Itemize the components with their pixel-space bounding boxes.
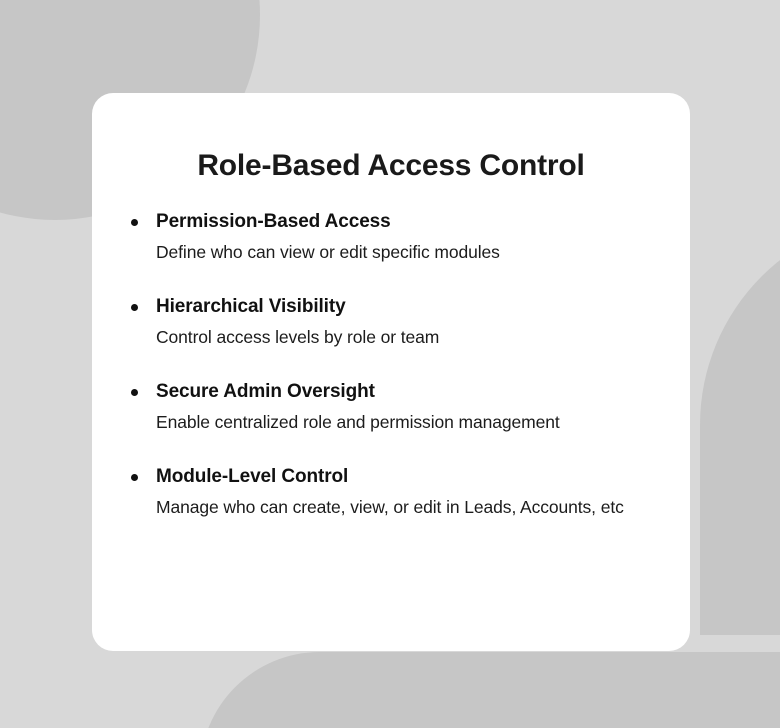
feature-description: Control access levels by role or team [156, 323, 664, 351]
list-item: Permission-Based Access Define who can v… [124, 210, 664, 266]
feature-description: Enable centralized role and permission m… [156, 408, 664, 436]
bullet-icon [131, 474, 138, 481]
list-item: Secure Admin Oversight Enable centralize… [124, 380, 664, 436]
list-item: Module-Level Control Manage who can crea… [124, 465, 664, 521]
feature-list: Permission-Based Access Define who can v… [124, 210, 664, 521]
feature-description: Define who can view or edit specific mod… [156, 238, 664, 266]
page-title: Role-Based Access Control [92, 148, 690, 184]
feature-description: Manage who can create, view, or edit in … [156, 493, 664, 521]
bullet-icon [131, 389, 138, 396]
slide-canvas: Role-Based Access Control Permission-Bas… [0, 0, 780, 728]
background-blob-right [700, 215, 780, 635]
feature-title: Module-Level Control [156, 465, 664, 489]
list-item: Hierarchical Visibility Control access l… [124, 295, 664, 351]
feature-title: Permission-Based Access [156, 210, 664, 234]
background-blob-bottom [200, 652, 780, 728]
bullet-icon [131, 219, 138, 226]
bullet-icon [131, 304, 138, 311]
feature-title: Hierarchical Visibility [156, 295, 664, 319]
feature-title: Secure Admin Oversight [156, 380, 664, 404]
content-card: Role-Based Access Control Permission-Bas… [92, 93, 690, 651]
